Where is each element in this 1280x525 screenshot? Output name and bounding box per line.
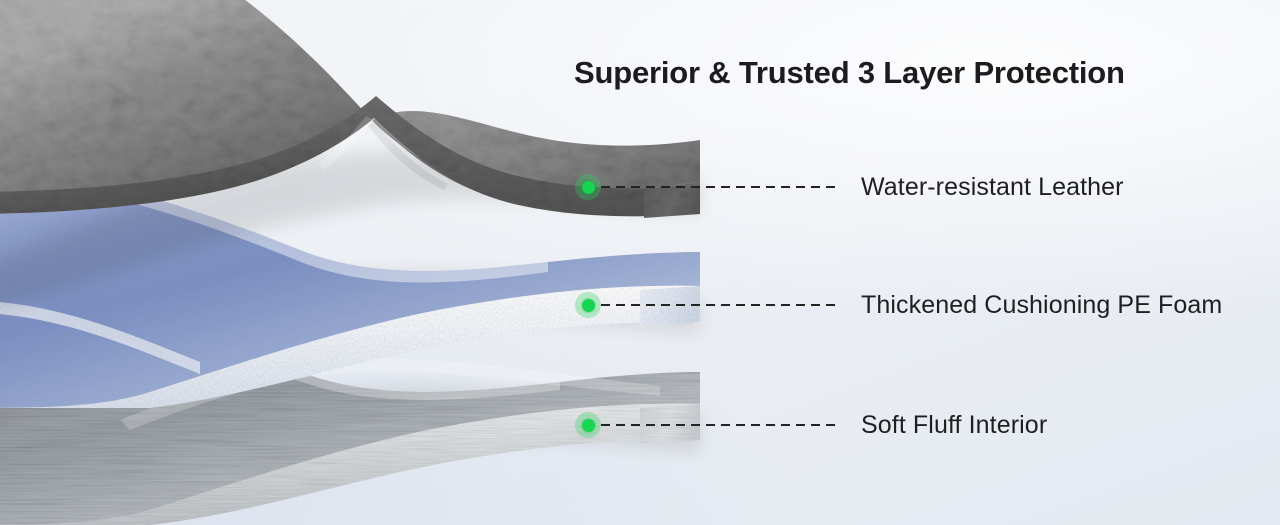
callout-label: Water-resistant Leather [861,173,1124,202]
leader-line [601,186,839,188]
marker-core [582,181,595,194]
leader-line [601,304,839,306]
leader-line [601,424,839,426]
green-dot-marker [575,174,601,200]
callout-soft-fluff: Soft Fluff Interior [575,410,1047,440]
marker-core [582,419,595,432]
marker-core [582,299,595,312]
green-dot-marker [575,412,601,438]
infographic-canvas: Superior & Trusted 3 Layer Protection Wa… [0,0,1280,525]
callout-label: Thickened Cushioning PE Foam [861,291,1222,320]
green-dot-marker [575,292,601,318]
callout-water-resistant-leather: Water-resistant Leather [575,172,1124,202]
callout-label: Soft Fluff Interior [861,411,1047,440]
callout-pe-foam: Thickened Cushioning PE Foam [575,290,1222,320]
page-title: Superior & Trusted 3 Layer Protection [574,55,1125,91]
